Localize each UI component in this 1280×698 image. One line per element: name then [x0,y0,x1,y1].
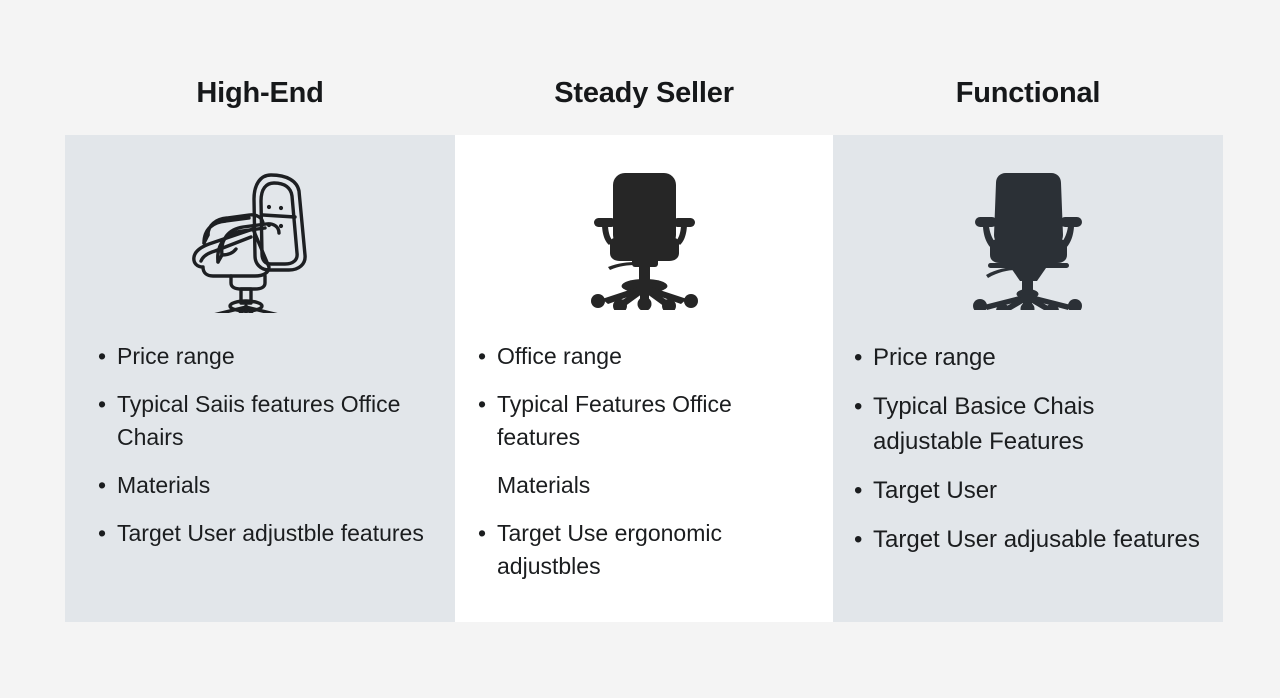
list-item: • Target User [851,473,1207,508]
office-chair-solid-icon [582,165,707,310]
list-item: • Price range [851,340,1207,375]
list-item-label: Typical Features Office features [497,388,813,454]
column-title-text: Steady Seller [554,77,734,110]
feature-list-functional: • Price range • Typical Basice Chais adj… [833,340,1223,571]
column-heading-steady-seller: Steady Seller [455,62,833,124]
bullet-icon: • [478,340,492,373]
list-item: • Materials [475,469,813,502]
panel-steady-seller: • Office range • Typical Features Office… [455,135,833,622]
list-item: • Office range [475,340,813,373]
bullet-icon: • [854,473,868,508]
list-item: • Price range [95,340,435,373]
list-item-label: Target User [873,473,1207,508]
bullet-icon: • [478,517,492,550]
list-item-label: Materials [497,469,813,502]
bullet-icon: • [854,389,868,424]
bullet-icon: • [98,469,112,502]
panel-functional: • Price range • Typical Basice Chais adj… [833,135,1223,622]
list-item: • Typical Saiis features Office Chairs [95,388,435,454]
column-title-text: Functional [956,77,1101,110]
bullet-icon: • [98,388,112,421]
list-item-label: Target User adjustble features [117,517,435,550]
feature-list-steady-seller: • Office range • Typical Features Office… [455,340,833,598]
comparison-panels-row: • Price range • Typical Saiis features O… [65,135,1223,622]
bullet-icon: • [854,340,868,375]
list-item-label: Materials [117,469,435,502]
column-title-text: High-End [196,77,323,110]
bullet-icon: • [98,340,112,373]
list-item-label: Target Use ergonomic adjustbles [497,517,813,583]
list-item-label: Target User adjusable features [873,522,1207,557]
task-chair-solid-icon [966,165,1091,310]
comparison-infographic: High-End Steady Seller Functional [0,0,1280,698]
bullet-icon: • [478,388,492,421]
column-heading-high-end: High-End [65,62,455,124]
illustration-area-steady-seller [455,135,833,340]
illustration-area-functional [833,135,1223,340]
list-item: • Target Use ergonomic adjustbles [475,517,813,583]
list-item: • Target User adjustble features [95,517,435,550]
column-heading-functional: Functional [833,62,1223,124]
list-item: • Typical Basice Chais adjustable Featur… [851,389,1207,459]
list-item: • Typical Features Office features [475,388,813,454]
list-item-label: Typical Basice Chais adjustable Features [873,389,1207,459]
illustration-area-high-end [65,135,455,340]
feature-list-high-end: • Price range • Typical Saiis features O… [65,340,455,565]
column-headings-row: High-End Steady Seller Functional [65,62,1223,124]
list-item-label: Price range [117,340,435,373]
panel-high-end: • Price range • Typical Saiis features O… [65,135,455,622]
bullet-icon: • [854,522,868,557]
list-item: • Target User adjusable features [851,522,1207,557]
list-item-label: Price range [873,340,1207,375]
list-item-label: Office range [497,340,813,373]
list-item: • Materials [95,469,435,502]
bullet-icon: • [98,517,112,550]
executive-office-chair-outline-icon [175,163,345,313]
list-item-label: Typical Saiis features Office Chairs [117,388,435,454]
